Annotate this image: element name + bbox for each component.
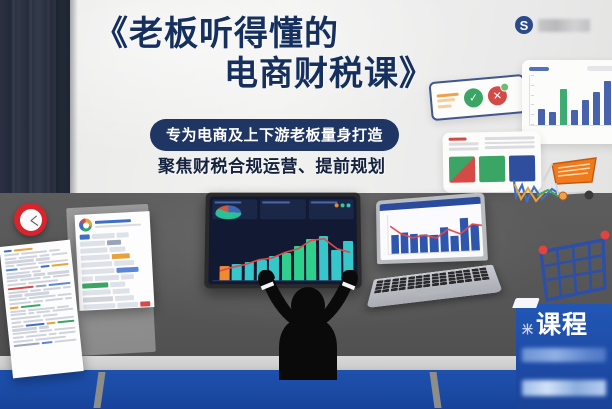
poster-canvas: S 《老板听得懂的 电商财税课》 专为电商及上下游老板量身打造 聚焦财税合规运营…: [0, 0, 612, 409]
spreadsheet-rows: [4, 244, 77, 347]
donut-chart-icon: [79, 218, 93, 232]
spreadsheet-document: [0, 240, 84, 379]
chart-bar: [560, 89, 567, 125]
chart-bar: [604, 81, 611, 125]
card-title-placeholder: [529, 67, 549, 71]
brand-name-redacted: [538, 19, 590, 32]
page-title: 《老板听得懂的 电商财税课》: [88, 14, 438, 94]
banner-corner-tab: [512, 298, 540, 308]
title-line-1: 《老板听得懂的: [88, 14, 438, 54]
title-line-2: 电商财税课》: [88, 54, 438, 94]
laptop-lid: [376, 192, 488, 264]
banner-title: 课程: [536, 312, 588, 339]
x-circle-icon: ✕: [487, 86, 508, 107]
card-header: [529, 66, 612, 71]
businessman-silhouette: [233, 270, 383, 380]
tile-green-red: [449, 156, 475, 182]
card-text-lines: [437, 92, 460, 108]
wall-clock-icon: [14, 203, 47, 236]
curtain-drape: [0, 0, 70, 196]
clock-face: [20, 209, 42, 231]
radial-gauge-icon: [215, 205, 241, 219]
banner-title-row: 米 课程: [522, 312, 606, 339]
subtitle-pill: 专为电商及上下游老板量身打造: [150, 119, 399, 151]
blue-shopping-cart-icon: [533, 222, 611, 314]
laptop-keyboard-base: [366, 265, 502, 309]
legend-dots: [335, 203, 351, 207]
laptop-computer: [372, 194, 498, 312]
orange-shopping-cart-icon: [540, 150, 606, 204]
trend-line-path: [390, 220, 483, 240]
header-left-lines: [449, 137, 479, 153]
banner-redacted-line-1: [522, 348, 606, 362]
tile-green: [479, 156, 505, 182]
header-right-lines: [485, 136, 535, 152]
brand-logo: S: [515, 16, 590, 34]
banner-redacted-line-2: [522, 380, 606, 396]
kpi-legend-widget: [308, 200, 353, 220]
chart-bar: [219, 266, 229, 280]
brand-mark-icon: S: [515, 16, 533, 34]
chart-bar: [538, 109, 545, 125]
kpi-radial-widget: [212, 200, 257, 220]
approve-reject-card: ✓ ✕: [428, 74, 527, 121]
notification-badge-icon: [500, 82, 510, 92]
laptop-screen: [380, 197, 484, 260]
banner-mark-glyph: 米: [522, 321, 533, 337]
laptop-trend-line: [390, 210, 484, 255]
dashboard-kpi-row: [209, 197, 356, 223]
course-banner: 米 课程: [516, 304, 612, 409]
infographic-blocks: [80, 231, 151, 311]
chart-bar: [549, 112, 556, 125]
infographic-document: [75, 211, 155, 311]
check-circle-icon: ✓: [463, 88, 484, 109]
card-control-placeholder: [587, 66, 612, 71]
bar-chart-plot: [529, 75, 612, 126]
chart-bar: [593, 92, 600, 125]
chart-bar: [582, 100, 589, 125]
tiles-card-header: [449, 136, 535, 152]
chart-bar: [571, 110, 578, 125]
tagline-text: 聚焦财税合规运营、提前规划: [158, 152, 386, 177]
y-axis-ticks: [531, 75, 534, 125]
kpi-stats-widget: [260, 200, 305, 220]
